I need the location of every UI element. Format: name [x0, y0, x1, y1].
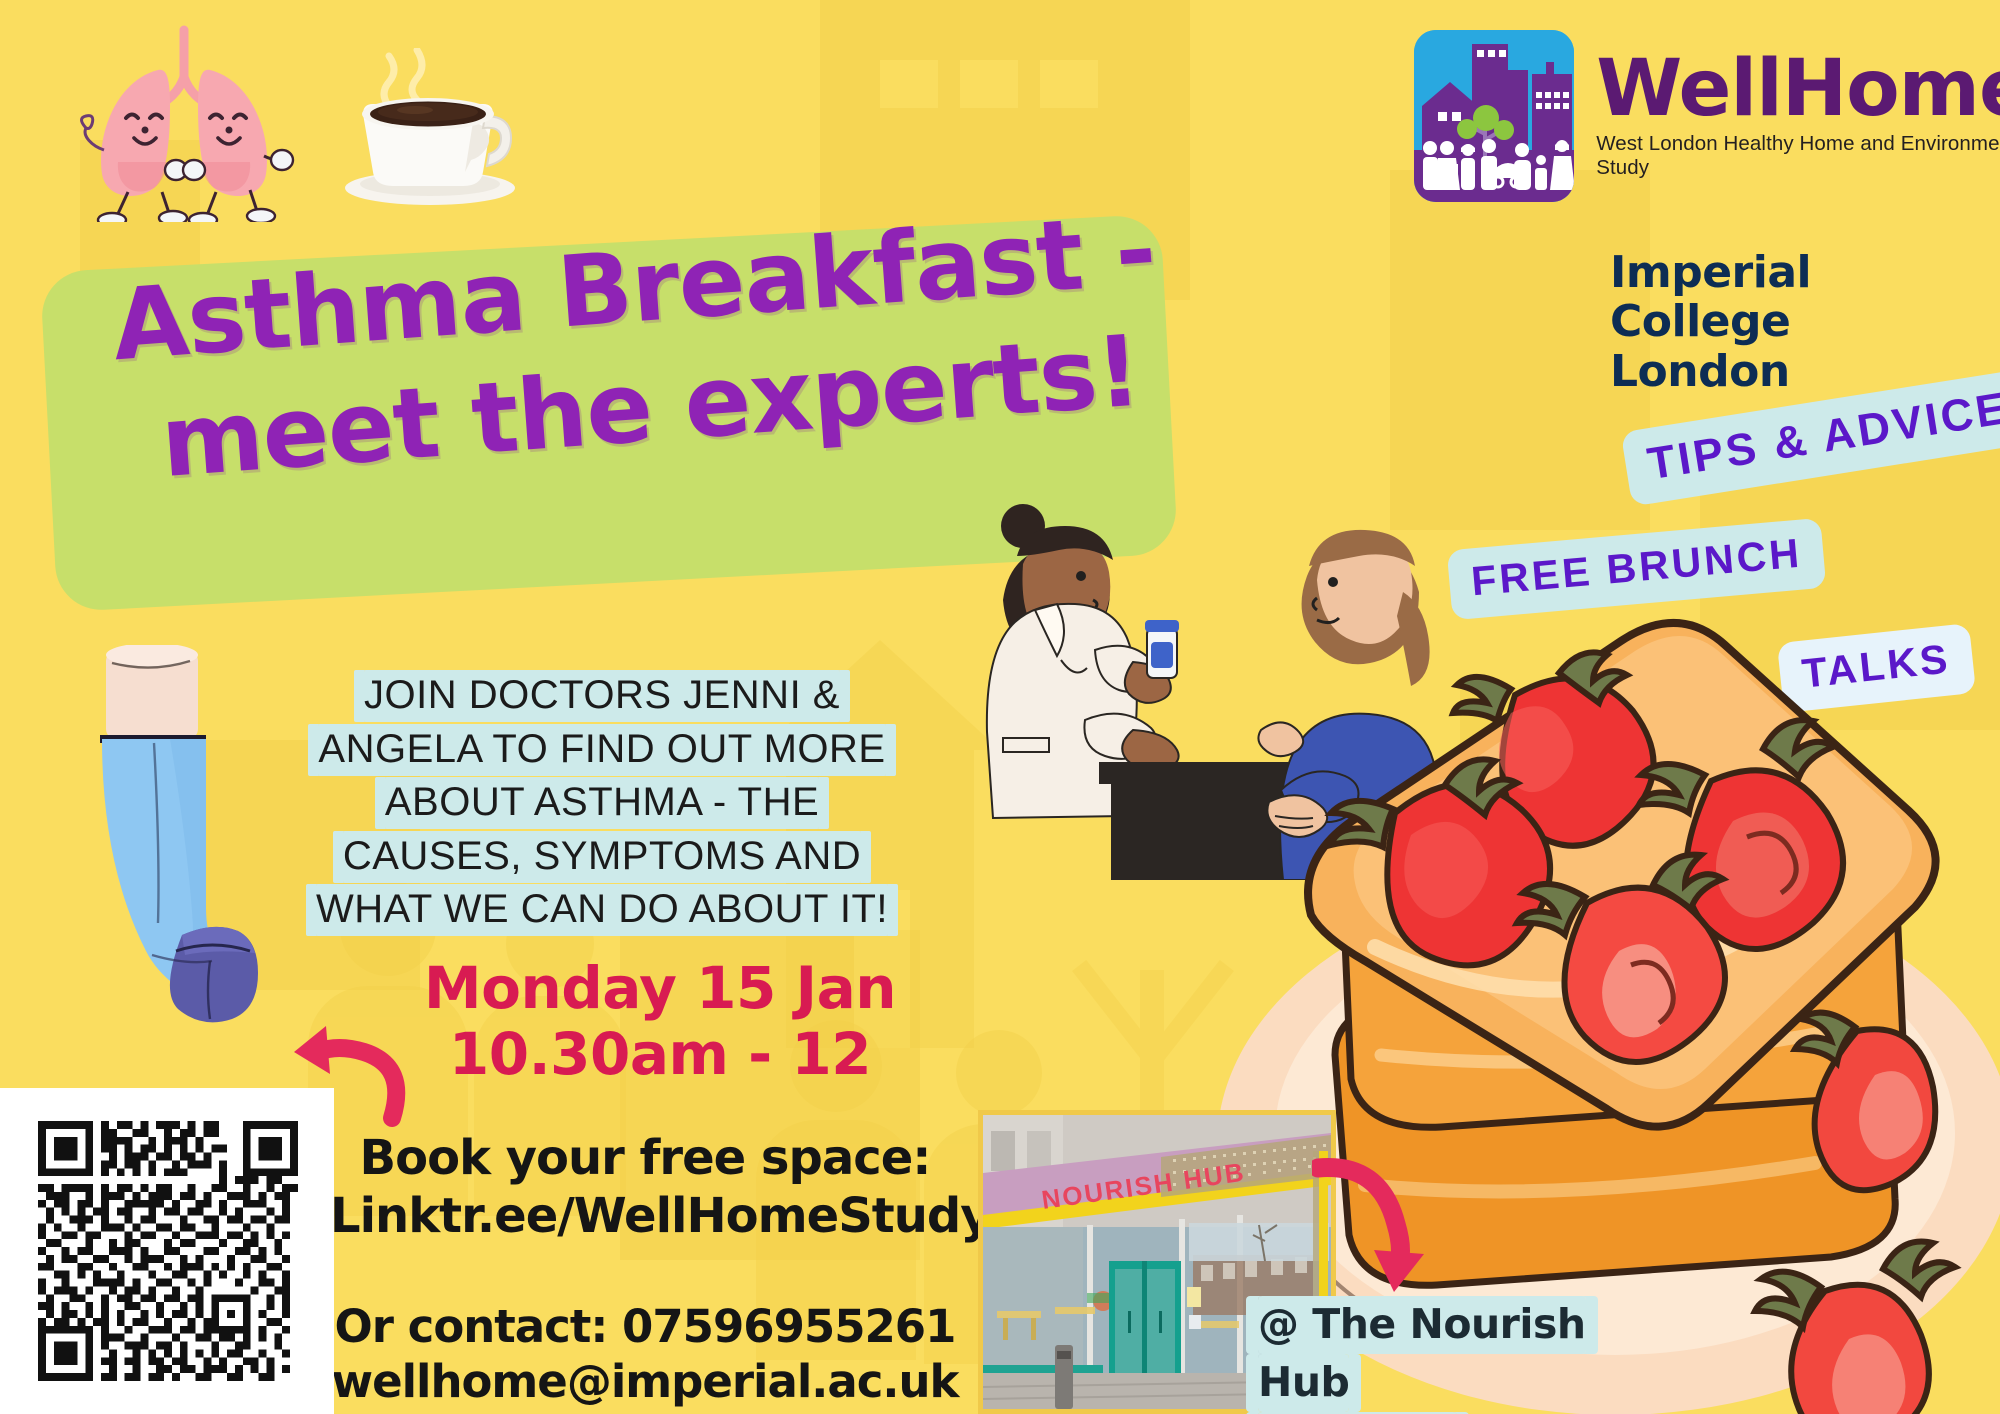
- description-line-4: CAUSES, SYMPTOMS AND: [343, 831, 861, 883]
- wellhome-logo-mark: [1414, 30, 1574, 202]
- venue-name: @ The Nourish Hub: [1258, 1296, 1586, 1412]
- description-block: JOIN DOCTORS JENNI & ANGELA TO FIND OUT …: [262, 669, 942, 937]
- imperial-college-logo: Imperial College London: [1610, 248, 2000, 396]
- description-line-1: JOIN DOCTORS JENNI &: [364, 670, 840, 722]
- curved-arrow-down-icon: [1312, 1150, 1462, 1295]
- description-line-5: WHAT WE CAN DO ABOUT IT!: [316, 884, 888, 936]
- wellhome-logo: WellHome West London Healthy Home and En…: [1414, 30, 2000, 202]
- contact-email[interactable]: wellhome@imperial.ac.uk: [320, 1355, 970, 1410]
- description-line-2: ANGELA TO FIND OUT MORE: [318, 724, 885, 776]
- coffee-cup-illustration: [345, 48, 535, 208]
- event-day: Monday 15 Jan: [380, 955, 940, 1021]
- booking-cta: Book your free space:: [330, 1130, 960, 1188]
- booking-info: Book your free space: Linktr.ee/WellHome…: [330, 1130, 960, 1245]
- description-line-3: ABOUT ASTHMA - THE: [385, 777, 819, 829]
- event-time: 10.30am - 12: [380, 1021, 940, 1087]
- asthma-breakfast-poster: Asthma Breakfast - meet the experts!: [0, 0, 2000, 1414]
- booking-link[interactable]: Linktr.ee/WellHomeStudy: [330, 1188, 960, 1246]
- wellhome-tagline: West London Healthy Home and Environment…: [1596, 132, 2000, 180]
- imperial-line-1: Imperial College: [1610, 248, 2000, 347]
- venue-info: @ The Nourish Hub W11 4SS: [1258, 1295, 1678, 1414]
- contact-info: Or contact: 07596955261 wellhome@imperia…: [320, 1300, 970, 1410]
- event-date-time: Monday 15 Jan 10.30am - 12: [380, 955, 940, 1087]
- qr-code[interactable]: [38, 1120, 298, 1382]
- contact-phone[interactable]: Or contact: 07596955261: [320, 1300, 970, 1355]
- wellhome-logo-text: WellHome West London Healthy Home and En…: [1596, 52, 2000, 180]
- wellhome-name: WellHome: [1596, 52, 2000, 126]
- lungs-illustration: [58, 22, 318, 222]
- asthma-inhaler-illustration: [78, 645, 258, 1035]
